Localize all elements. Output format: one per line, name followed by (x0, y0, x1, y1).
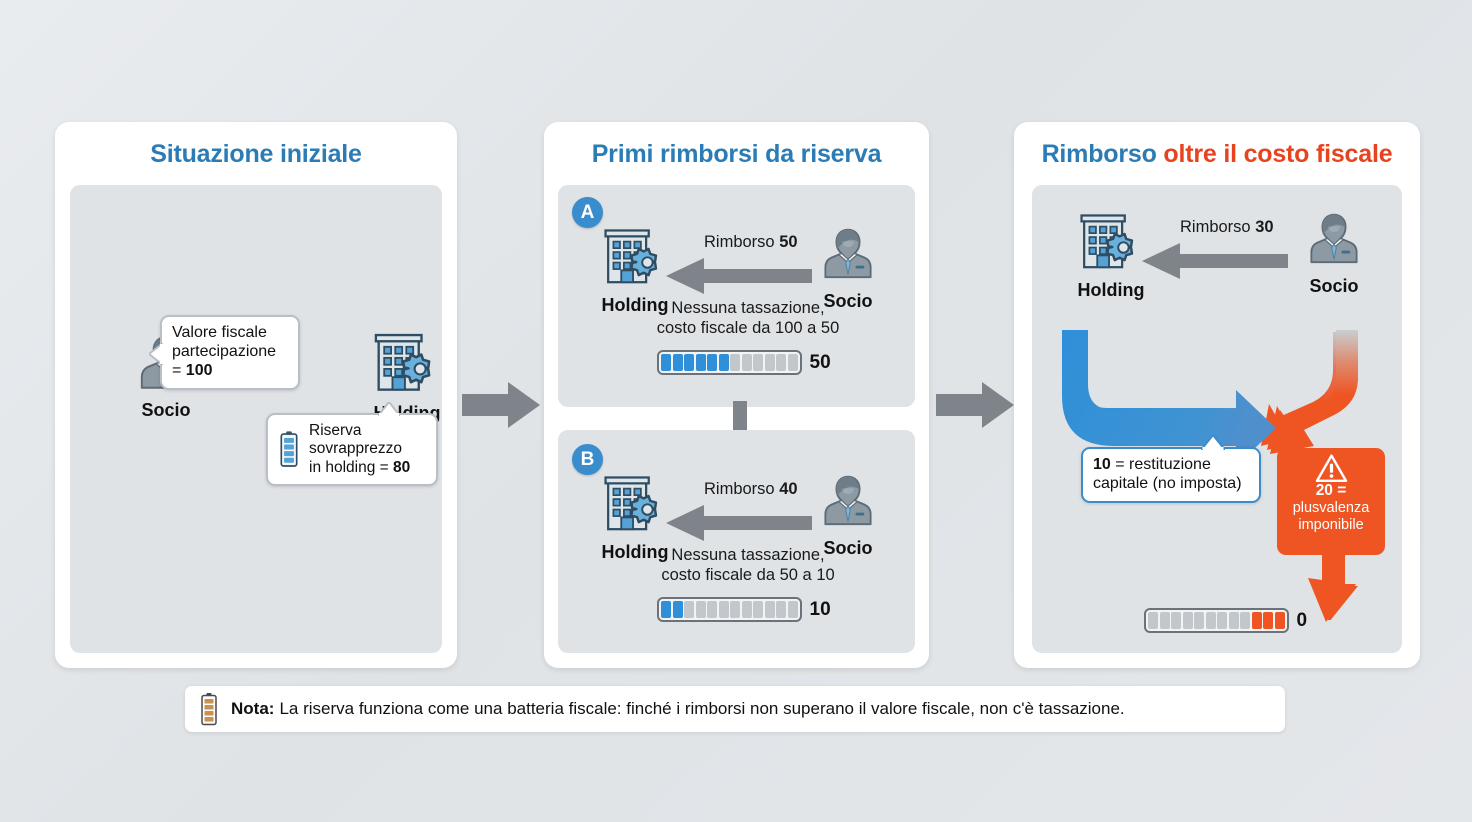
panel-title-text: Rimborso (1042, 140, 1164, 168)
bar-value-final: 0 (1297, 610, 1308, 632)
panel-title-situazione-iniziale: Situazione iniziale (55, 122, 457, 169)
plusvalenza-line-2: plusvalenza (1277, 500, 1385, 517)
panel-title-text: Situazione iniziale (150, 140, 362, 168)
riserva-line-2: sovrapprezzo (309, 440, 410, 458)
flow-label-text: Rimborso (1180, 218, 1255, 236)
battery-bar-stepA (657, 350, 802, 375)
connector-panel2-to-panel3 (936, 378, 1016, 433)
battery-bar-final (1144, 608, 1289, 633)
caption-stepB: Nessuna tassazione, costo fiscale da 50 … (608, 545, 888, 585)
step-B-container: B Holding Socio Rimborso 40 Nessuna tass… (558, 430, 915, 653)
progress-bar-stepB: 10 (657, 597, 831, 622)
battery-icon (199, 692, 219, 727)
valore-fiscale-callout: Valore fiscale partecipazione = 100 (160, 315, 300, 390)
callout-tail-up-icon (378, 402, 400, 416)
restituzione-value: 10 (1093, 456, 1111, 473)
warning-triangle-icon (1315, 454, 1348, 483)
flow-label-stepB: Rimborso 40 (704, 480, 798, 499)
battery-bar-stepB (657, 597, 802, 622)
entity-socio-final: Socio (1286, 208, 1382, 297)
flow-label-final: Rimborso 30 (1180, 218, 1274, 237)
riserva-line-1: Riserva (309, 422, 410, 440)
flow-label-value: 40 (779, 480, 797, 498)
flow-label-text: Rimborso (704, 233, 779, 251)
panel-title-rimborso-oltre: Rimborso oltre il costo fiscale (1014, 122, 1420, 169)
building-gear-icon (599, 223, 671, 289)
caption-line-2: costo fiscale da 50 a 10 (608, 565, 888, 585)
callout-line-1: Valore fiscale (172, 324, 288, 343)
callout-line-3: = 100 (172, 362, 288, 381)
flow-label-value: 30 (1255, 218, 1273, 236)
flow-arrow-stepA (664, 257, 812, 295)
battery-icon (278, 430, 300, 469)
plusvalenza-value: 20 = (1316, 482, 1347, 499)
caption-line-2: costo fiscale da 100 a 50 (608, 318, 888, 338)
panel-title-text: Primi rimborsi da riserva (592, 140, 882, 168)
flow-label-value: 50 (779, 233, 797, 251)
panel-title-accent: oltre il costo fiscale (1163, 140, 1392, 168)
restituzione-text: = restituzione (1111, 456, 1211, 473)
flow-arrow-stepB (664, 504, 812, 542)
connector-panel1-to-panel2 (462, 378, 542, 433)
entity-label-holding: Holding (1056, 280, 1166, 301)
riserva-sovrapprezzo-callout: Riserva sovrapprezzo in holding = 80 (266, 413, 438, 486)
entity-label-socio: Socio (1286, 276, 1382, 297)
callout-line-2: partecipazione (172, 343, 288, 362)
step-badge-A-label: A (581, 202, 595, 224)
panel-situazione-iniziale: Situazione iniziale Socio Holding Valore… (55, 122, 457, 668)
note-tail-up-icon (170, 674, 196, 690)
entity-label-socio: Socio (118, 400, 214, 421)
note-bar: Nota: La riserva funziona come una batte… (185, 686, 1285, 732)
plusvalenza-imponibile-box: 20 = plusvalenza imponibile (1277, 448, 1385, 555)
valore-fiscale-value: 100 (186, 362, 213, 379)
progress-bar-final: 0 (1144, 608, 1307, 633)
person-icon (819, 470, 877, 532)
plusvalenza-line-3: imponibile (1277, 517, 1385, 534)
person-icon (1305, 208, 1363, 270)
restituzione-line-1: 10 = restituzione (1093, 456, 1249, 475)
progress-bar-stepA: 50 (657, 350, 831, 375)
building-gear-icon (599, 470, 671, 536)
building-gear-icon (1075, 208, 1147, 274)
caption-stepA: Nessuna tassazione, costo fiscale da 100… (608, 298, 888, 338)
callout-tail-up-icon (1201, 435, 1225, 450)
panel-primi-rimborsi: Primi rimborsi da riserva A Holding Soci… (544, 122, 929, 668)
building-gear-icon (369, 327, 445, 397)
person-icon (819, 223, 877, 285)
flow-label-text: Rimborso (704, 480, 779, 498)
bar-value-stepA: 50 (810, 352, 831, 374)
entity-holding-initial: Holding (352, 327, 462, 424)
riserva-line-3: in holding = 80 (309, 459, 410, 477)
restituzione-line-2: capitale (no imposta) (1093, 475, 1249, 494)
caption-line-1: Nessuna tassazione, (608, 298, 888, 318)
restituzione-capitale-callout: 10 = restituzione capitale (no imposta) (1081, 447, 1261, 503)
caption-line-1: Nessuna tassazione, (608, 545, 888, 565)
bar-value-stepB: 10 (810, 599, 831, 621)
callout-tail-left-icon (149, 343, 163, 365)
step-A-container: A Holding Socio Rimborso 50 Nessuna tass… (558, 185, 915, 407)
riserva-value: 80 (393, 459, 410, 476)
step-badge-B-label: B (581, 449, 595, 471)
flow-label-stepA: Rimborso 50 (704, 233, 798, 252)
note-label: Nota: (231, 699, 274, 719)
panel-title-primi-rimborsi: Primi rimborsi da riserva (544, 122, 929, 169)
flow-arrow-final (1140, 242, 1288, 280)
note-text: La riserva funziona come una batteria fi… (279, 699, 1124, 719)
